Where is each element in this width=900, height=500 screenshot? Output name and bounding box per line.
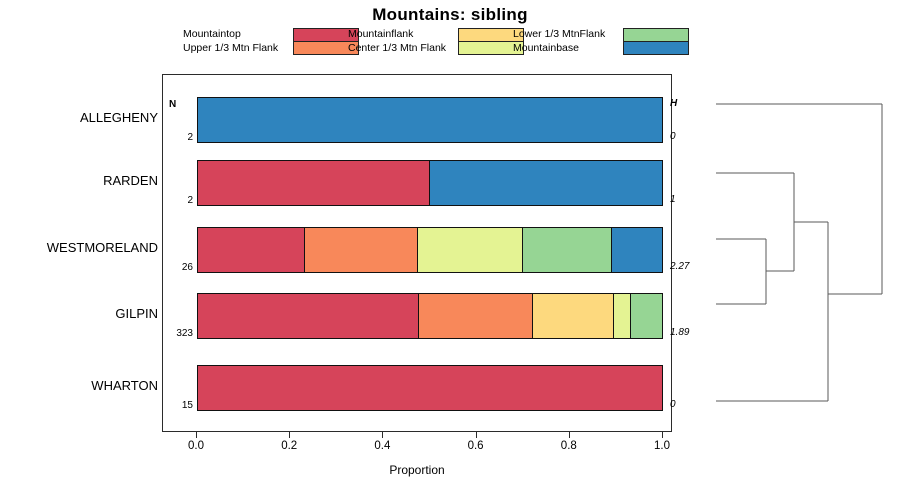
bar-gilpin[interactable] — [197, 293, 663, 339]
chart-title: Mountains: sibling — [0, 5, 900, 25]
x-axis-label: Proportion — [162, 463, 672, 477]
legend-swatch — [624, 29, 688, 42]
n-value: 2 — [163, 195, 193, 206]
legend-label: Mountainbase — [513, 41, 605, 55]
bar-segment[interactable] — [417, 227, 524, 273]
bar-segment[interactable] — [304, 227, 419, 273]
h-value: 0 — [670, 131, 676, 142]
bar-segment[interactable] — [197, 293, 420, 339]
dendrogram-svg — [686, 74, 900, 432]
legend: MountaintopUpper 1/3 Mtn FlankMountainfl… — [183, 27, 683, 57]
bar-segment[interactable] — [613, 293, 632, 339]
x-tick — [289, 432, 290, 438]
x-tick-label: 0.0 — [188, 440, 204, 452]
x-tick — [476, 432, 477, 438]
category-label: GILPIN — [3, 306, 158, 321]
x-tick-label: 0.6 — [468, 440, 484, 452]
bar-westmoreland[interactable] — [197, 227, 663, 273]
legend-label: Lower 1/3 MtnFlank — [513, 27, 605, 41]
plot-panel: N222632315 — [162, 74, 672, 432]
legend-labels: Lower 1/3 MtnFlankMountainbase — [513, 27, 605, 55]
bar-segment[interactable] — [197, 227, 306, 273]
legend-label: Mountaintop — [183, 27, 278, 41]
bar-rarden[interactable] — [197, 160, 663, 206]
category-labels: ALLEGHENYRARDENWESTMORELANDGILPINWHARTON — [0, 74, 158, 432]
x-tick — [569, 432, 570, 438]
x-tick-label: 0.8 — [561, 440, 577, 452]
bar-segment[interactable] — [197, 160, 431, 206]
h-header: H — [670, 98, 677, 109]
category-label: RARDEN — [3, 173, 158, 188]
x-tick — [662, 432, 663, 438]
legend-swatch — [624, 42, 688, 55]
legend-label: Mountainflank — [348, 27, 446, 41]
category-label: WHARTON — [3, 378, 158, 393]
x-tick — [382, 432, 383, 438]
bar-segment[interactable] — [532, 293, 615, 339]
h-value: 0 — [670, 399, 676, 410]
legend-label: Center 1/3 Mtn Flank — [348, 41, 446, 55]
chart-canvas: Mountains: sibling MountaintopUpper 1/3 … — [0, 0, 900, 500]
n-value: 323 — [163, 328, 193, 339]
bar-segment[interactable] — [611, 227, 663, 273]
x-tick-label: 0.4 — [374, 440, 390, 452]
legend-swatch-box — [623, 28, 689, 55]
category-label: WESTMORELAND — [3, 240, 158, 255]
bar-segment[interactable] — [630, 293, 663, 339]
n-value: 15 — [163, 400, 193, 411]
category-label: ALLEGHENY — [3, 110, 158, 125]
h-value: 1 — [670, 194, 676, 205]
n-value: 26 — [163, 262, 193, 273]
x-tick-label: 1.0 — [654, 440, 670, 452]
x-tick — [196, 432, 197, 438]
bar-allegheny[interactable] — [197, 97, 663, 143]
legend-labels: MountainflankCenter 1/3 Mtn Flank — [348, 27, 446, 55]
dendrogram — [686, 74, 900, 432]
x-tick-label: 0.2 — [281, 440, 297, 452]
bar-segment[interactable] — [418, 293, 533, 339]
bar-segment[interactable] — [522, 227, 612, 273]
bar-segment[interactable] — [197, 97, 663, 143]
n-header: N — [169, 99, 176, 110]
legend-labels: MountaintopUpper 1/3 Mtn Flank — [183, 27, 278, 55]
bar-segment[interactable] — [429, 160, 663, 206]
legend-label: Upper 1/3 Mtn Flank — [183, 41, 278, 55]
n-value: 2 — [163, 132, 193, 143]
bar-segment[interactable] — [197, 365, 663, 411]
bar-wharton[interactable] — [197, 365, 663, 411]
